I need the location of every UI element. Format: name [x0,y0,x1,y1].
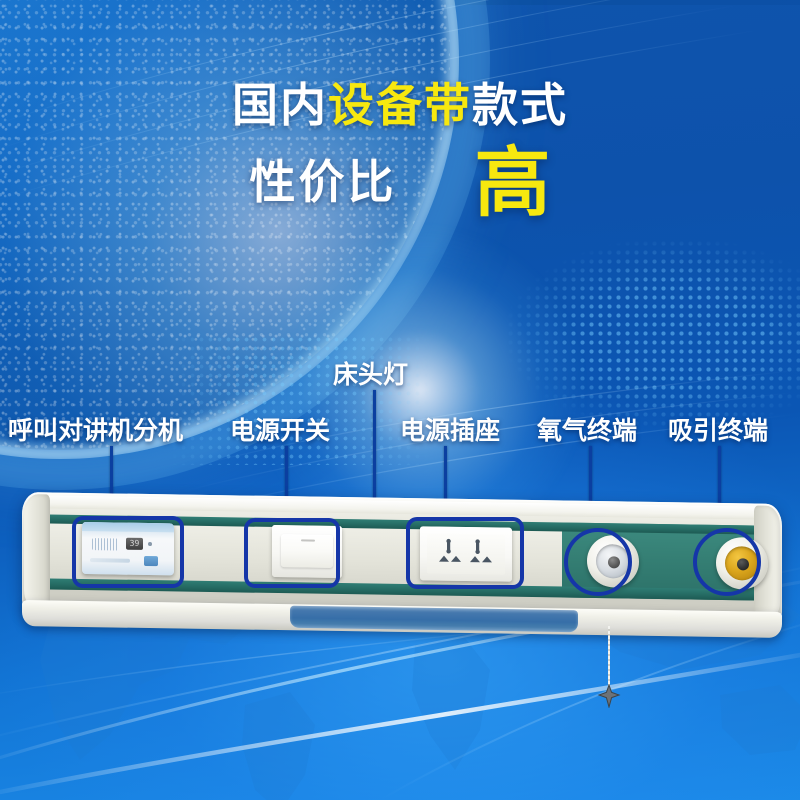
poster-canvas: 国内设备带款式 性价比 高 呼叫对讲机分机 电源开关 床头灯 电源插座 氧气终端… [0,0,800,800]
bed-head-unit: 39 [22,498,782,643]
socket-face [427,533,505,574]
switch-rocker[interactable] [281,534,333,568]
callout-label-power-socket: 电源插座 [400,418,500,443]
speaker-grille-icon [92,538,118,550]
pull-cord-handle-icon[interactable] [597,684,621,708]
callout-label-oxygen: 氧气终端 [537,418,637,443]
indicator-led-icon [148,542,152,546]
power-switch-device[interactable] [272,525,342,578]
socket-holes-icon [427,533,505,574]
callout-label-bed-lamp: 床头灯 [333,362,408,387]
switch-mark [301,539,315,541]
intercom-device[interactable]: 39 [82,522,174,575]
suction-terminal-inner [725,546,759,581]
intercom-label-strip [90,558,130,563]
pull-cord-string[interactable] [608,626,610,689]
oxygen-terminal-port[interactable] [608,556,620,568]
oxygen-terminal[interactable] [587,535,639,588]
suction-terminal-port[interactable] [737,558,749,570]
unit-endcap-left [24,494,50,608]
suction-terminal[interactable] [716,537,768,590]
intercom-call-button[interactable] [144,556,158,566]
callout-label-intercom: 呼叫对讲机分机 [8,418,183,443]
oxygen-terminal-inner [596,544,630,579]
intercom-top-trim [82,522,174,532]
callout-label-power-switch: 电源开关 [230,418,330,443]
intercom-display: 39 [126,538,143,550]
callout-group: 呼叫对讲机分机 电源开关 床头灯 电源插座 氧气终端 吸引终端 [0,0,800,800]
callout-label-suction: 吸引终端 [668,418,768,443]
power-socket-device[interactable] [420,526,512,581]
bed-lamp-cover [290,606,578,633]
